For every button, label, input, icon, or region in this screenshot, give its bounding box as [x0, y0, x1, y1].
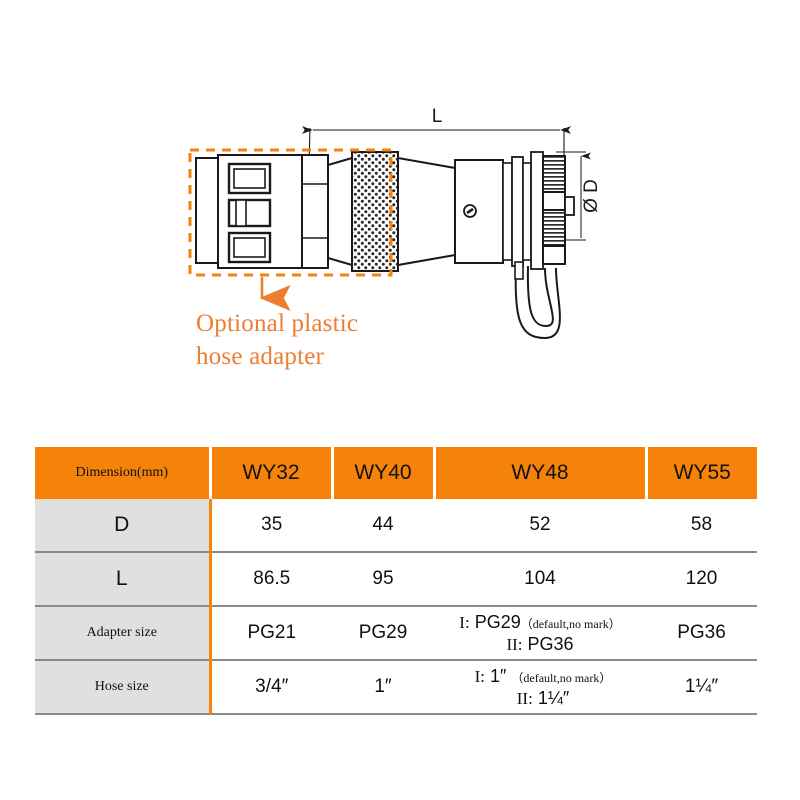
cell-d-wy55: 58	[646, 499, 757, 552]
hose-option-1-prefix: I:	[475, 667, 485, 686]
header-dimension-label: Dimension(mm)	[35, 447, 210, 499]
row-label-d: D	[35, 499, 210, 552]
cell-d-wy32: 35	[210, 499, 332, 552]
cell-adapter-wy40: PG29	[332, 606, 434, 660]
header-model-wy32: WY32	[210, 447, 332, 499]
cell-l-wy48: 104	[434, 552, 646, 606]
adapter-option-1-prefix: I:	[459, 613, 469, 632]
hose-option-2-value: 1¼″	[538, 688, 569, 708]
hose-option-2-prefix: II:	[517, 689, 533, 708]
cell-d-wy40: 44	[332, 499, 434, 552]
cell-hose-wy40: 1″	[332, 660, 434, 714]
connector-diagram: L Ø D	[0, 0, 800, 430]
lanyard-cable	[515, 262, 560, 338]
specification-table: Dimension(mm) WY32 WY40 WY48 WY55 D 35 4…	[35, 447, 757, 715]
cell-l-wy55: 120	[646, 552, 757, 606]
cell-adapter-wy55: PG36	[646, 606, 757, 660]
cell-l-wy32: 86.5	[210, 552, 332, 606]
table-row: Hose size 3/4″ 1″ I: 1″ （default,no mark…	[35, 660, 757, 714]
cell-d-wy48: 52	[434, 499, 646, 552]
hose-option-1-note: （default,no mark）	[511, 671, 611, 685]
cell-adapter-wy32: PG21	[210, 606, 332, 660]
callout-line-1: Optional plastic	[196, 307, 456, 340]
cell-hose-wy55: 1¼″	[646, 660, 757, 714]
cell-hose-wy48: I: 1″ （default,no mark） II: 1¼″	[434, 660, 646, 714]
table-row: Adapter size PG21 PG29 I: PG29（default,n…	[35, 606, 757, 660]
callout-line-2: hose adapter	[196, 340, 456, 373]
hose-option-1-value: 1″	[490, 666, 506, 686]
header-model-wy48: WY48	[434, 447, 646, 499]
length-label: L	[432, 106, 443, 127]
cell-hose-wy32: 3/4″	[210, 660, 332, 714]
adapter-option-2-value: PG36	[528, 634, 574, 654]
row-label-l: L	[35, 552, 210, 606]
adapter-option-2-prefix: II:	[506, 635, 522, 654]
cell-l-wy40: 95	[332, 552, 434, 606]
hose-adapter-callout: Optional plastic hose adapter	[196, 307, 456, 373]
diameter-label: Ø D	[581, 179, 602, 213]
row-label-hose-size: Hose size	[35, 660, 210, 714]
table-row: L 86.5 95 104 120	[35, 552, 757, 606]
header-model-wy55: WY55	[646, 447, 757, 499]
adapter-option-1-value: PG29	[475, 612, 521, 632]
connector-body	[196, 152, 574, 271]
adapter-option-1-note: （default,no mark）	[521, 617, 621, 631]
header-model-wy40: WY40	[332, 447, 434, 499]
table-row: D 35 44 52 58	[35, 499, 757, 552]
row-label-adapter-size: Adapter size	[35, 606, 210, 660]
cell-adapter-wy48: I: PG29（default,no mark） II: PG36	[434, 606, 646, 660]
table-header-row: Dimension(mm) WY32 WY40 WY48 WY55	[35, 447, 757, 499]
